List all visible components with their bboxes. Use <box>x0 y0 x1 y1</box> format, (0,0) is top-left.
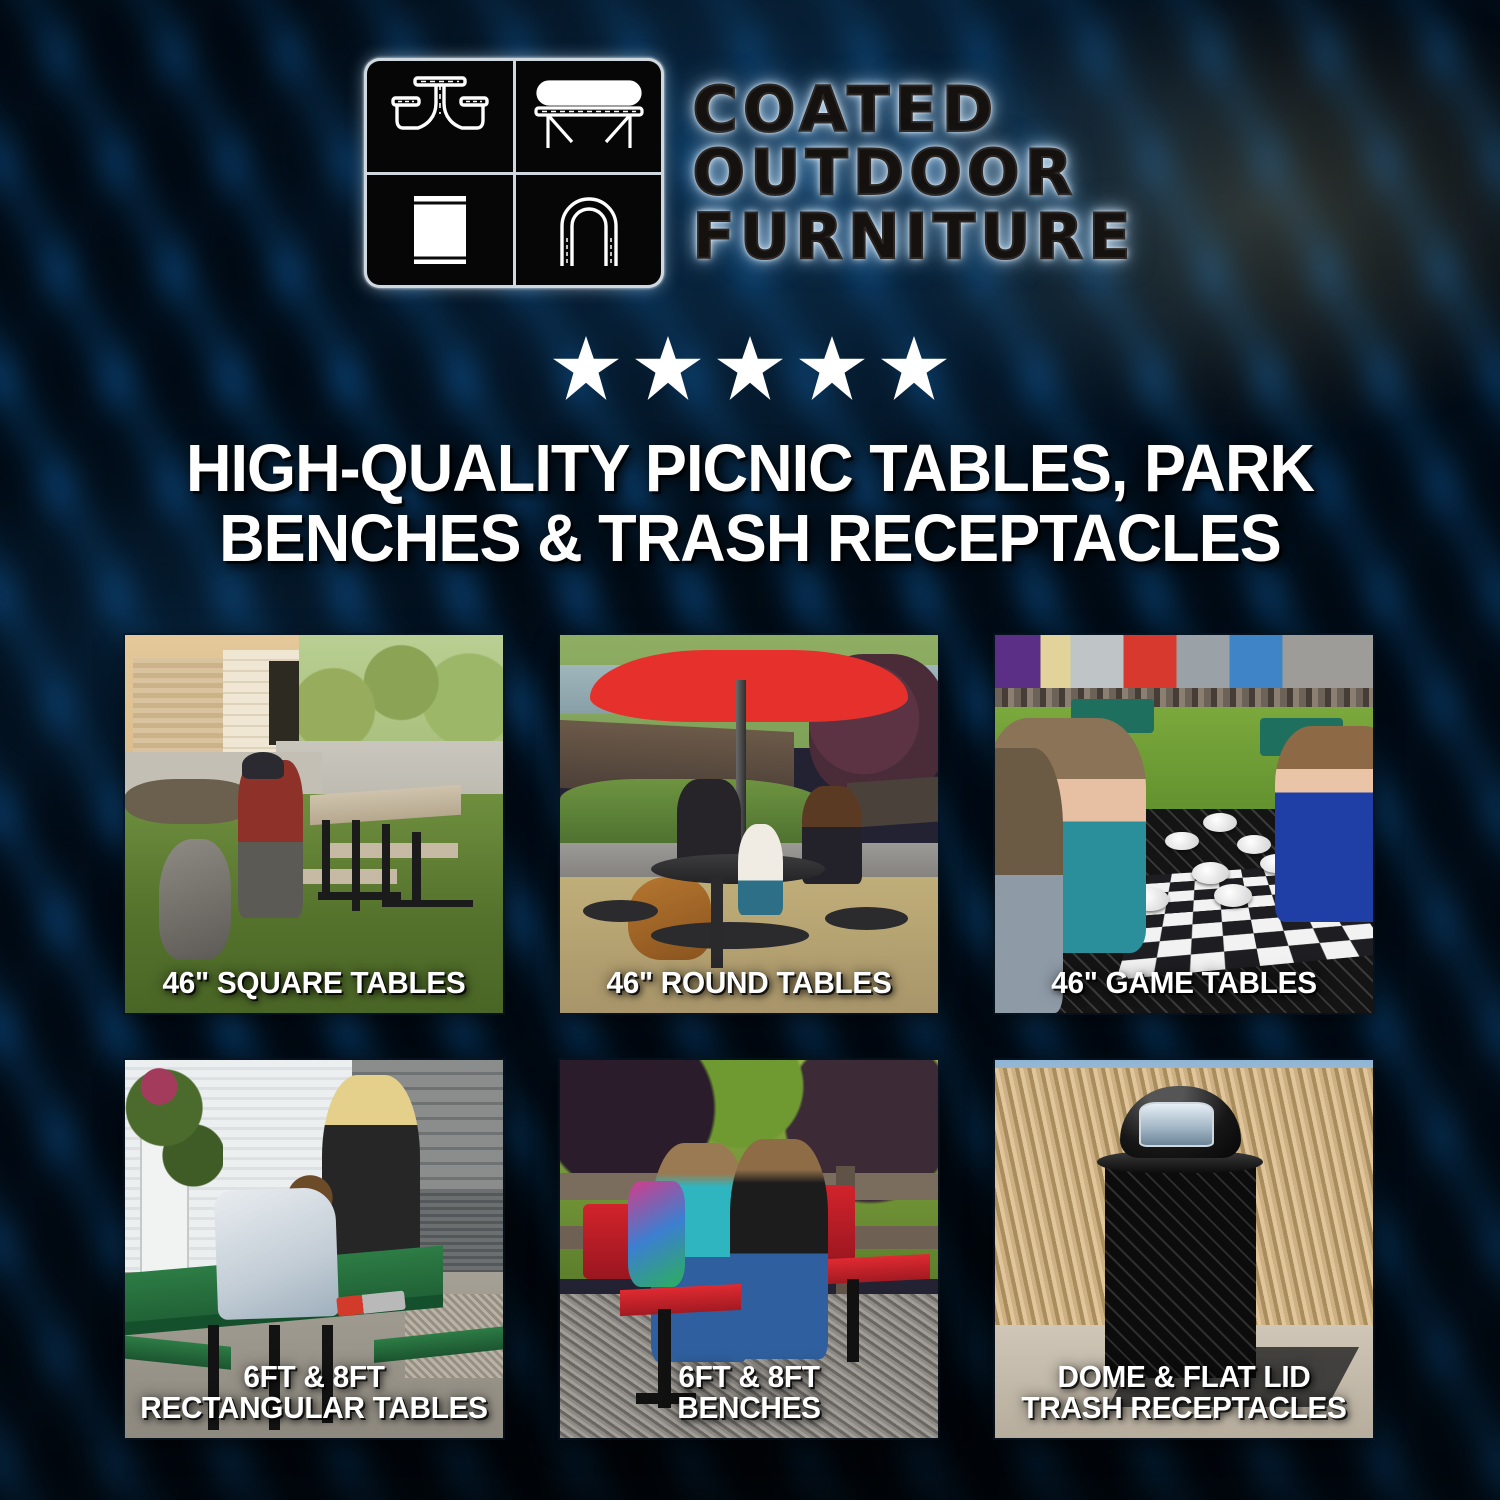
caption-line-2: BENCHES <box>573 1392 924 1424</box>
category-card-rectangular-tables[interactable]: 6FT & 8FT RECTANGULAR TABLES <box>125 1060 503 1438</box>
star-icon-4 <box>799 336 865 400</box>
category-card-round-tables[interactable]: 46" ROUND TABLES <box>560 635 938 1013</box>
photo-game-tables <box>995 635 1373 1013</box>
bench-icon <box>530 70 648 162</box>
caption-line-1: DOME & FLAT LID <box>1008 1361 1359 1393</box>
star-icon-1 <box>553 336 619 400</box>
logo-tile-bench <box>516 61 662 172</box>
star-icon-2 <box>635 336 701 400</box>
header: COATED OUTDOOR FURNITURE HIGH-QUALITY PI… <box>0 0 1500 573</box>
star-icon-3 <box>717 336 783 400</box>
category-card-benches[interactable]: 6FT & 8FT BENCHES <box>560 1060 938 1438</box>
headline: HIGH-QUALITY PICNIC TABLES, PARK BENCHES… <box>45 434 1455 573</box>
caption-line-1: 6FT & 8FT <box>573 1361 924 1393</box>
card-caption: 6FT & 8FT RECTANGULAR TABLES <box>133 1361 496 1424</box>
category-card-game-tables[interactable]: 46" GAME TABLES <box>995 635 1373 1013</box>
wordmark-line-2: OUTDOOR <box>692 143 1135 203</box>
category-card-square-tables[interactable]: 46" SQUARE TABLES <box>125 635 503 1013</box>
logo-tile-trash-receptacle <box>367 175 513 286</box>
card-caption: 46" SQUARE TABLES <box>133 967 496 999</box>
star-rating <box>0 336 1500 400</box>
picnic-table-icon <box>381 70 499 162</box>
category-card-trash-receptacles[interactable]: DOME & FLAT LID TRASH RECEPTACLES <box>995 1060 1373 1438</box>
wordmark: COATED OUTDOOR FURNITURE <box>692 80 1135 267</box>
product-category-grid: 46" SQUARE TABLES 46" ROUND TAB <box>125 635 1375 1438</box>
headline-line-2: BENCHES & TRASH RECEPTACLES <box>45 504 1455 574</box>
wordmark-line-3: FURNITURE <box>692 207 1135 267</box>
headline-line-1: HIGH-QUALITY PICNIC TABLES, PARK <box>45 434 1455 504</box>
caption-line-2: RECTANGULAR TABLES <box>138 1392 489 1424</box>
card-caption: 46" GAME TABLES <box>1003 967 1366 999</box>
bike-rack-arch-icon <box>541 182 637 278</box>
caption-line-2: TRASH RECEPTACLES <box>1008 1392 1359 1424</box>
logo-tile-bike-rack-arch <box>516 175 662 286</box>
trash-receptacle-icon <box>392 182 488 278</box>
photo-square-tables <box>125 635 503 1013</box>
wordmark-line-1: COATED <box>692 80 1135 140</box>
logo-mark <box>364 58 664 288</box>
card-caption: 6FT & 8FT BENCHES <box>568 1361 931 1424</box>
logo-tile-picnic-table <box>367 61 513 172</box>
card-caption: DOME & FLAT LID TRASH RECEPTACLES <box>1003 1361 1366 1424</box>
caption-line-1: 46" GAME TABLES <box>1008 967 1359 999</box>
caption-line-1: 46" ROUND TABLES <box>573 967 924 999</box>
caption-line-1: 46" SQUARE TABLES <box>138 967 489 999</box>
star-icon-5 <box>881 336 947 400</box>
brand-row: COATED OUTDOOR FURNITURE <box>0 0 1500 288</box>
caption-line-1: 6FT & 8FT <box>138 1361 489 1393</box>
card-caption: 46" ROUND TABLES <box>568 967 931 999</box>
photo-round-tables <box>560 635 938 1013</box>
